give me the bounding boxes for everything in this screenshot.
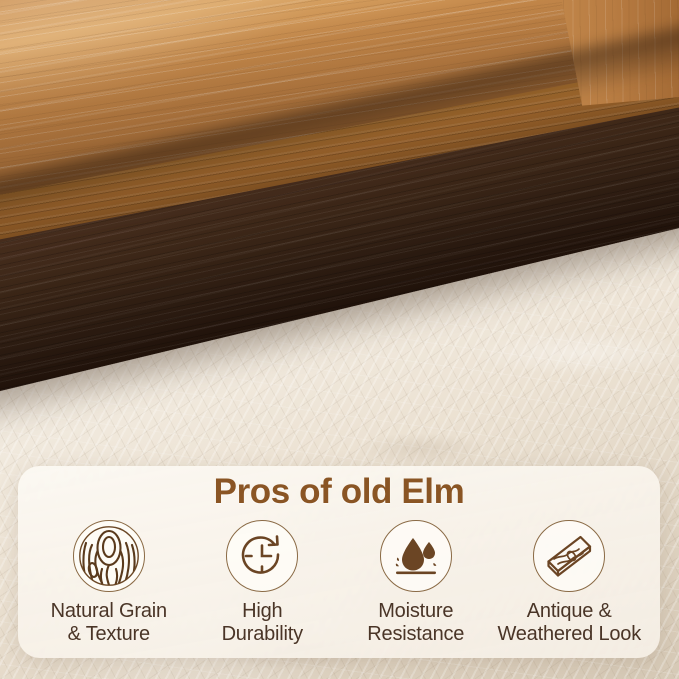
feature-item-high-durability: High Durability (186, 520, 340, 645)
wood-grain-icon (73, 520, 145, 592)
product-image-stage: Pros of old Elm (0, 0, 679, 679)
feature-item-moisture-resistance: Moisture Resistance (339, 520, 493, 645)
card-title: Pros of old Elm (18, 472, 660, 512)
feature-label: Natural Grain & Texture (51, 600, 167, 645)
feature-item-natural-grain: Natural Grain & Texture (32, 520, 186, 645)
feature-label: Moisture Resistance (367, 600, 464, 645)
feature-list: Natural Grain & Texture High Durability (18, 520, 660, 645)
pros-info-card: Pros of old Elm (18, 466, 660, 658)
wood-plank-icon (533, 520, 605, 592)
feature-item-antique-look: Antique & Weathered Look (493, 520, 647, 645)
clock-arrow-icon (226, 520, 298, 592)
feature-label: High Durability (222, 600, 303, 645)
feature-label: Antique & Weathered Look (497, 600, 641, 645)
water-droplet-icon (380, 520, 452, 592)
